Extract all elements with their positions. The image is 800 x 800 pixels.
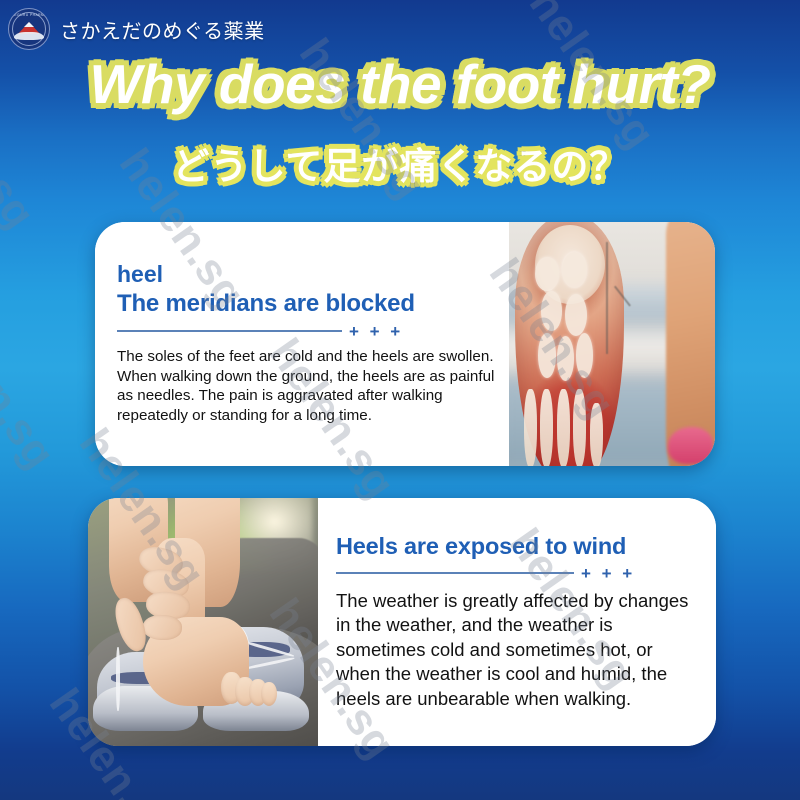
toe-bone-group xyxy=(524,389,616,466)
anatomical-foot-shape xyxy=(515,222,624,466)
toe-shape xyxy=(524,389,537,466)
card-divider: + + + xyxy=(117,323,495,340)
bone-shape xyxy=(541,291,561,331)
photo-toe-shape xyxy=(261,682,277,707)
bone-shape xyxy=(557,336,574,381)
card-kicker: heel xyxy=(117,262,495,287)
card-image-ankle-pain xyxy=(88,498,318,746)
watermark-text: helen.sg xyxy=(0,300,65,478)
card-text-panel: Heels are exposed to wind + + + The weat… xyxy=(318,498,716,746)
photo-shoelace xyxy=(116,647,120,711)
toe-shape xyxy=(590,403,603,466)
toe-shape xyxy=(573,389,586,466)
photo-lace-shape xyxy=(606,242,608,354)
divider-line xyxy=(336,572,574,574)
toe-shape xyxy=(540,389,553,466)
watermark-text: helen.sg xyxy=(0,560,15,738)
toe-shape xyxy=(557,389,570,466)
bone-shape xyxy=(576,333,593,378)
card-image-anatomical-foot xyxy=(509,222,715,466)
logo-snowcap-shape xyxy=(24,22,34,27)
brand-header: MEGURU PHARMA さかえだのめぐる薬業 xyxy=(8,8,265,50)
bone-shape xyxy=(565,294,587,336)
card-headline: Heels are exposed to wind xyxy=(336,533,702,560)
brand-name: さかえだのめぐる薬業 xyxy=(60,15,265,44)
divider-plus-marks: + + + xyxy=(581,565,635,582)
logo-arc-text: MEGURU PHARMA xyxy=(9,13,49,17)
card-text-panel: heel The meridians are blocked + + + The… xyxy=(95,222,509,466)
divider-line xyxy=(117,330,342,332)
logo-wave-shape xyxy=(14,32,44,40)
divider-plus-marks: + + + xyxy=(349,323,403,340)
bone-shape xyxy=(538,333,555,378)
info-card-wind-exposure: Heels are exposed to wind + + + The weat… xyxy=(88,498,716,746)
page-title-japanese: どうして足が痛くなるの？ xyxy=(0,136,800,190)
page-title-english: Why does the foot hurt? xyxy=(0,52,800,116)
photo-finger-shape xyxy=(143,614,183,640)
card-body-text: The soles of the feet are cold and the h… xyxy=(117,347,495,427)
card-body-text: The weather is greatly affected by chang… xyxy=(336,589,702,712)
company-logo-icon: MEGURU PHARMA xyxy=(8,8,50,50)
photo-pink-shoe-shape xyxy=(668,427,713,464)
bone-shape xyxy=(562,252,587,289)
info-card-meridians: heel The meridians are blocked + + + The… xyxy=(95,222,715,466)
card-headline: The meridians are blocked xyxy=(117,290,495,318)
bone-shape xyxy=(535,257,559,291)
promotional-poster: MEGURU PHARMA さかえだのめぐる薬業 Why does the fo… xyxy=(0,0,800,800)
card-divider: + + + xyxy=(336,565,702,582)
arch-bone-group xyxy=(530,252,609,384)
